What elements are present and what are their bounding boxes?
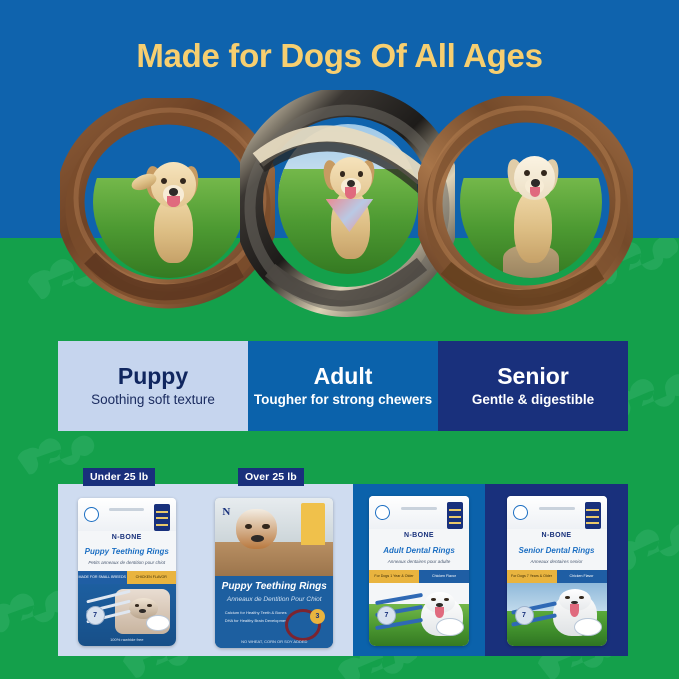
age-heading-puppy: Puppy	[118, 365, 188, 388]
badge-under-25lb: Under 25 lb	[83, 468, 155, 486]
hero-ring-senior	[418, 96, 633, 321]
product-brand: N-BONE	[369, 532, 469, 539]
product-senior-dental-rings[interactable]: N-BONE Senior Dental Rings Anneaux denta…	[507, 496, 607, 646]
product-footer: NO WHEAT, CORN OR SOY ADDED	[215, 639, 333, 644]
product-flavor: CHICKEN FLAVOR	[127, 571, 176, 584]
product-subtitle: Anneaux dentaires pour adulte	[369, 559, 469, 564]
product-size-note: MADE FOR SMALL BREEDS	[78, 571, 127, 584]
package-tab	[447, 502, 463, 529]
product-count: 7	[515, 606, 534, 625]
product-adult-dental-rings[interactable]: N-BONE Adult Dental Rings Anneaux dentai…	[369, 496, 469, 646]
page-title: Made for Dogs Of All Ages	[0, 37, 679, 75]
product-flavor: Chicken Flavor	[557, 570, 607, 584]
age-description-puppy: Soothing soft texture	[91, 392, 215, 408]
age-description-adult: Tougher for strong chewers	[254, 392, 432, 408]
badge-over-25lb: Over 25 lb	[238, 468, 304, 486]
product-name: Puppy Teething Rings	[78, 547, 176, 556]
product-size-note: For Dogs 7 Years & Older	[507, 570, 557, 584]
product-subtitle: Anneaux de Dentition Pour Chiot	[215, 596, 333, 603]
product-puppy-teething-rings-large[interactable]: N Puppy Teething Rings Anneaux de Dentit…	[215, 498, 333, 648]
product-footer: 100% rawhide free	[78, 637, 176, 642]
product-count: 7	[86, 606, 105, 625]
product-name: Senior Dental Rings	[507, 546, 607, 555]
product-flavor: Chicken Flavor	[419, 570, 469, 584]
product-panel-adult: N-BONE Adult Dental Rings Anneaux dentai…	[353, 484, 485, 656]
product-bullet-2: DHA for Healthy Brain Development	[225, 617, 289, 625]
age-heading-adult: Adult	[314, 365, 373, 388]
marketing-image: Made for Dogs Of All Ages	[0, 0, 679, 679]
package-tab	[154, 504, 170, 531]
age-heading-senior: Senior	[497, 365, 569, 388]
age-column-puppy: Puppy Soothing soft texture	[58, 341, 248, 431]
product-count: 3	[310, 609, 325, 624]
product-name: Adult Dental Rings	[369, 546, 469, 555]
product-panel-under25: Under 25 lb Over 25 lb N-BONE Puppy Teet…	[58, 484, 353, 656]
hero-ring-photos	[0, 88, 679, 318]
age-stage-columns: Puppy Soothing soft texture Adult Toughe…	[58, 341, 628, 431]
usa-seal-icon	[375, 505, 390, 520]
age-column-adult: Adult Tougher for strong chewers	[248, 341, 438, 431]
product-subtitle: Petits anneaux de dentition pour chiot	[78, 560, 176, 565]
product-bullet-1: Calcium for Healthy Teeth & Bones	[225, 609, 289, 617]
usa-seal-icon	[513, 505, 528, 520]
age-column-senior: Senior Gentle & digestible	[438, 341, 628, 431]
product-panel-senior: N-BONE Senior Dental Rings Anneaux denta…	[485, 484, 628, 656]
product-name: Puppy Teething Rings	[215, 581, 333, 592]
product-shelf: Under 25 lb Over 25 lb N-BONE Puppy Teet…	[58, 484, 628, 656]
product-brand: N	[222, 506, 230, 518]
usa-seal-icon	[84, 507, 99, 522]
senior-dental-ring	[418, 96, 633, 321]
age-description-senior: Gentle & digestible	[472, 392, 594, 408]
product-subtitle: Anneaux dentaires senior	[507, 559, 607, 564]
product-size-note: For Dogs 1 Year & Older	[369, 570, 419, 584]
package-tab	[585, 502, 601, 529]
product-puppy-teething-rings-small[interactable]: N-BONE Puppy Teething Rings Petits annea…	[78, 498, 176, 646]
product-count: 7	[377, 606, 396, 625]
product-flag-badge	[301, 503, 325, 545]
product-brand: N-BONE	[507, 532, 607, 539]
product-brand: N-BONE	[78, 534, 176, 541]
